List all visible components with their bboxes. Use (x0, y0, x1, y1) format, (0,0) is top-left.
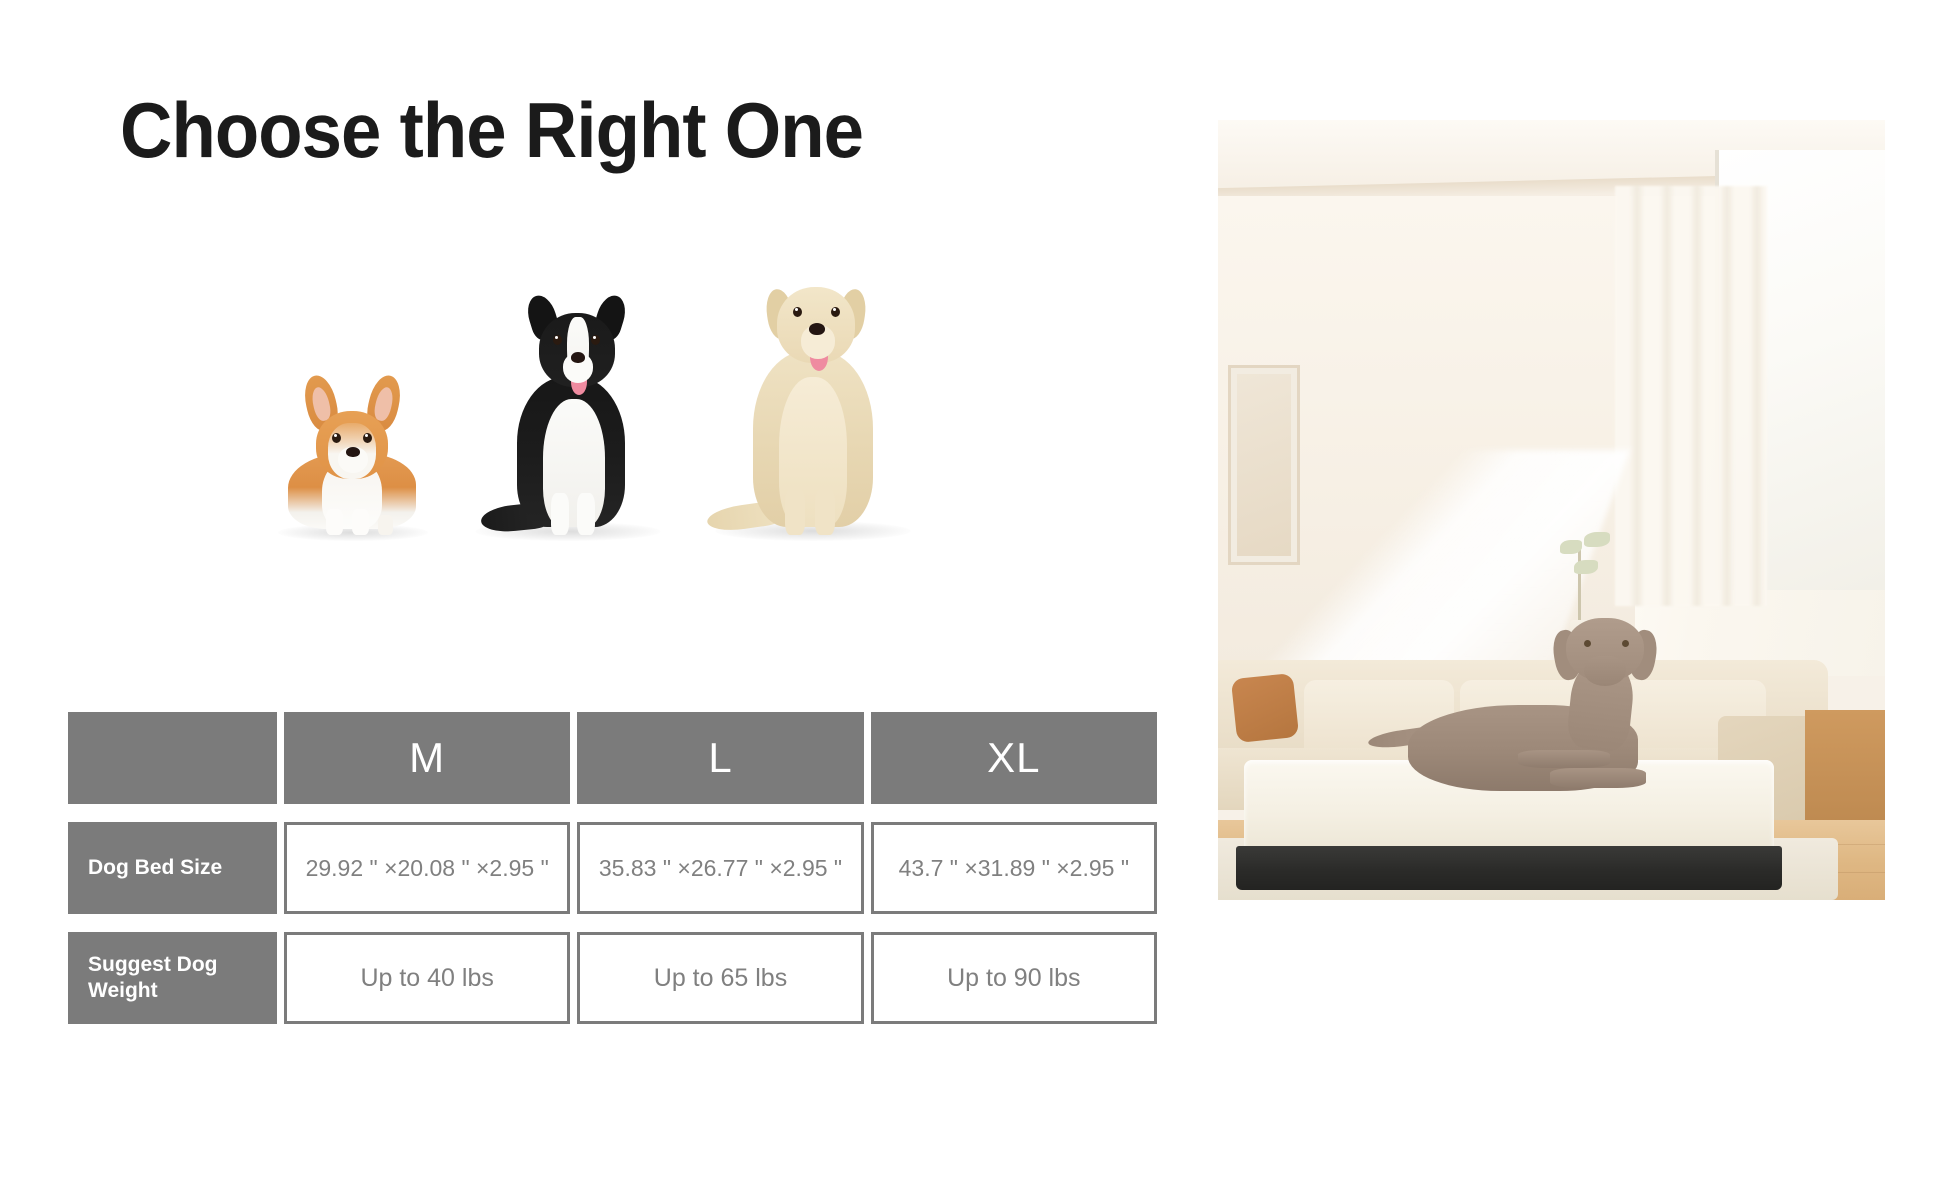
collie-nose (571, 352, 585, 363)
dog-bed-black-base (1236, 846, 1782, 890)
plant-leaf (1584, 532, 1610, 547)
cell-bed-size-l: 35.83 " ×26.77 " ×2.95 " (577, 822, 863, 914)
cell-bed-size-xl: 43.7 " ×31.89 " ×2.95 " (871, 822, 1157, 914)
collie-leg-left (551, 493, 569, 535)
corgi-eye-right (363, 433, 372, 443)
plant-leaf (1560, 540, 1582, 554)
plant-leaf (1574, 560, 1598, 574)
corgi-leg-front-right (352, 509, 369, 535)
column-header-m: M (284, 712, 570, 804)
weimaraner-front-leg (1550, 768, 1646, 788)
dog-size-lineup (250, 215, 950, 535)
table-corner-cell (68, 712, 277, 804)
corgi-leg-back (378, 515, 393, 535)
collie-eye-left (553, 335, 562, 345)
labrador-nose (809, 323, 825, 335)
row-label-suggest-dog-weight: Suggest Dog Weight (68, 932, 277, 1024)
corgi-dog-illustration (270, 350, 435, 535)
corgi-leg-front-left (326, 509, 343, 535)
collie-leg-right (577, 493, 595, 535)
weimaraner-eye-right (1622, 640, 1629, 647)
column-header-l: L (577, 712, 863, 804)
table-row: Suggest Dog Weight Up to 40 lbs Up to 65… (68, 932, 1157, 1024)
size-guide-page: Choose the Right One (0, 0, 1940, 1200)
cell-bed-size-m: 29.92 " ×20.08 " ×2.95 " (284, 822, 570, 914)
labrador-dog-illustration (705, 235, 920, 535)
sheer-curtain (1615, 186, 1767, 606)
weimaraner-muzzle (1584, 656, 1626, 686)
left-panel: Choose the Right One (0, 0, 1200, 1200)
corgi-eye-left (332, 433, 341, 443)
weimaraner-eye-left (1584, 640, 1591, 647)
labrador-eye-right (831, 307, 840, 317)
size-spec-table: M L XL Dog Bed Size 29.92 " ×20.08 " ×2.… (68, 712, 1157, 1024)
weimaraner-front-leg (1518, 750, 1610, 768)
column-header-xl: XL (871, 712, 1157, 804)
cell-weight-xl: Up to 90 lbs (871, 932, 1157, 1024)
cell-weight-m: Up to 40 lbs (284, 932, 570, 1024)
corgi-nose (346, 447, 360, 457)
table-header-row: M L XL (68, 712, 1157, 804)
room-lifestyle-photo (1218, 120, 1885, 900)
page-title: Choose the Right One (120, 85, 863, 176)
labrador-leg-left (785, 489, 805, 535)
collie-eye-right (591, 335, 600, 345)
labrador-leg-right (815, 489, 835, 535)
row-label-dog-bed-size: Dog Bed Size (68, 822, 277, 914)
throw-pillow (1231, 673, 1299, 743)
labrador-eye-left (793, 307, 802, 317)
border-collie-dog-illustration (465, 265, 670, 535)
table-row: Dog Bed Size 29.92 " ×20.08 " ×2.95 " 35… (68, 822, 1157, 914)
cell-weight-l: Up to 65 lbs (577, 932, 863, 1024)
